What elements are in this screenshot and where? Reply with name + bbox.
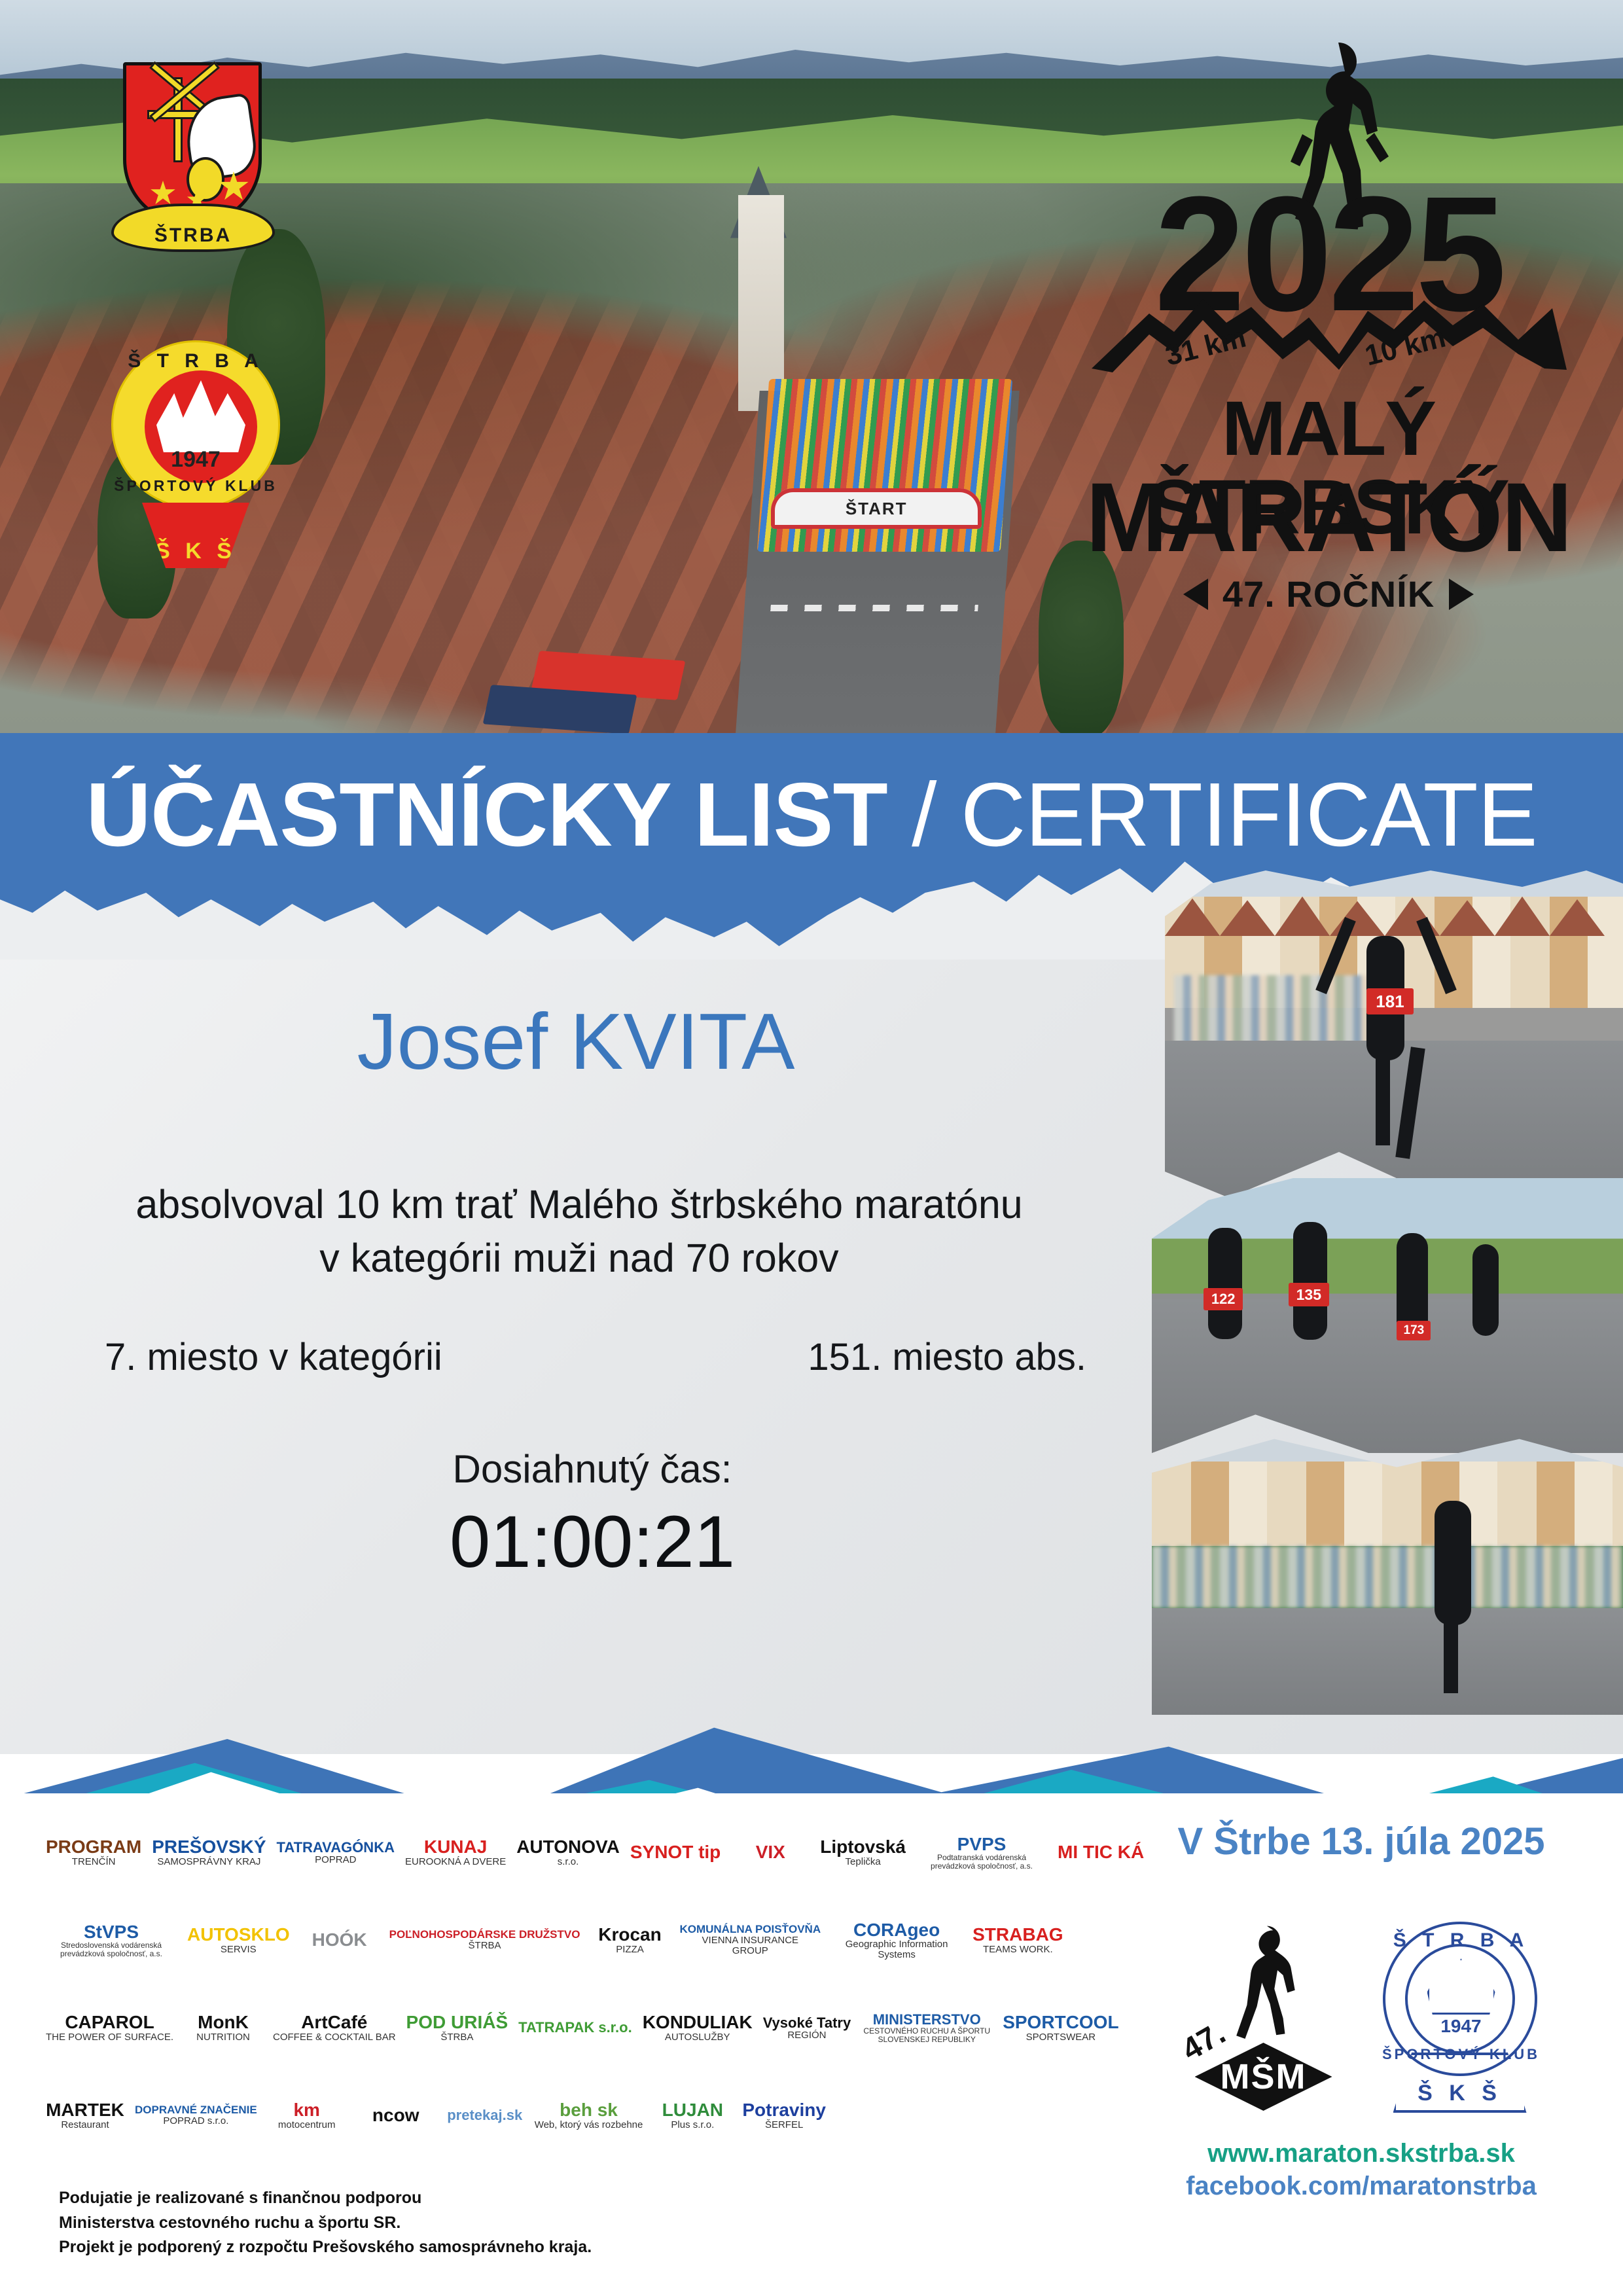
sponsor-name: LUJAN xyxy=(662,2100,723,2119)
sponsor-name: AUTOSKLO xyxy=(187,1925,290,1944)
photo-collage: 181 122 135 173 xyxy=(1126,870,1623,1715)
official-stamps: 47. MŠM Š T R B A 1947 ŠPORTOVÝ KLUB Š K… xyxy=(1158,1911,1564,2121)
sponsor-subtitle: EUROOKNÁ A DVERE xyxy=(405,1857,506,1867)
club-bottom-text: ŠPORTOVÝ KLUB xyxy=(113,477,278,495)
finish-time: 01:00:21 xyxy=(0,1505,1185,1579)
sponsor-logo: KONDULIAKAUTOSLUŽBY xyxy=(643,1988,753,2067)
sponsor-name: ncow xyxy=(372,2106,419,2125)
club-year: 1947 xyxy=(113,447,278,473)
bib-number: 122 xyxy=(1204,1288,1243,1310)
sponsor-name: Vysoké Tatry xyxy=(763,2015,851,2030)
sponsor-logo: TATRAVAGÓNKAPOPRAD xyxy=(277,1813,395,1892)
sponsor-logo: PVPSPodtatranská vodárenská prevádzková … xyxy=(916,1813,1047,1892)
recipient-last-name: KVITA xyxy=(570,997,794,1086)
sponsor-subtitle: Stredoslovenská vodárenská prevádzková s… xyxy=(46,1941,177,1958)
sponsor-name: POD URIÁŠ xyxy=(406,2013,508,2032)
sponsor-subtitle: Restaurant xyxy=(61,2120,109,2130)
sponsor-name: AUTONOVA xyxy=(516,1837,620,1856)
sponsor-subtitle: AUTOSLUŽBY xyxy=(665,2032,730,2043)
sponsor-name: PROGRAM xyxy=(46,1837,141,1856)
sponsor-footer: PROGRAMTRENČÍNPREŠOVSKÝSAMOSPRÁVNY KRAJT… xyxy=(0,1793,1623,2296)
funding-support-note: Podujatie je realizované s finančnou pod… xyxy=(59,2186,910,2260)
sponsor-logo: beh skWeb, ktorý vás rozbehne xyxy=(535,2076,643,2155)
sponsor-name: CORAgeo xyxy=(853,1920,940,1939)
place-absolute: 151. miesto abs. xyxy=(808,1335,1086,1379)
sponsor-subtitle: POPRAD s.r.o. xyxy=(163,2116,228,2126)
sponsor-name: STRABAG xyxy=(972,1925,1063,1944)
sponsor-name: ArtCafé xyxy=(301,2013,367,2032)
shield-icon xyxy=(123,62,262,224)
sponsor-name: MINISTERSTVO xyxy=(873,2012,981,2027)
recipient-first-name: Josef xyxy=(357,997,548,1086)
sponsor-name: PREŠOVSKÝ xyxy=(152,1837,266,1856)
triangle-right-icon xyxy=(1449,579,1474,610)
club-ring: Š T R B A 1947 ŠPORTOVÝ KLUB xyxy=(111,340,280,509)
sponsor-logo: SPORTCOOLSPORTSWEAR xyxy=(1003,1988,1118,2067)
sponsor-subtitle: VIENNA INSURANCE GROUP xyxy=(685,1935,815,1956)
time-label: Dosiahnutý čas: xyxy=(0,1446,1185,1492)
sponsor-logo: PREŠOVSKÝSAMOSPRÁVNY KRAJ xyxy=(152,1813,266,1892)
coat-caption: ŠTRBA xyxy=(154,224,232,249)
sponsor-subtitle: REGIÓN xyxy=(787,2030,826,2041)
bib-number: 135 xyxy=(1289,1283,1329,1306)
mountain-outline-icon xyxy=(1086,291,1571,376)
sponsor-logo: PotravinyŠERFEL xyxy=(742,2076,826,2155)
sponsor-name: TATRAVAGÓNKA xyxy=(277,1840,395,1855)
sponsor-logo: pretekaj.sk xyxy=(446,2076,524,2155)
strba-coat-of-arms: ŠTRBA xyxy=(111,62,275,259)
sponsor-name: POĽNOHOSPODÁRSKE DRUŽSTVO xyxy=(389,1929,580,1941)
sponsor-name: Krocan xyxy=(598,1925,661,1944)
sponsor-subtitle: COFFEE & COCKTAIL BAR xyxy=(273,2032,396,2043)
sks-stamp: Š T R B A 1947 ŠPORTOVÝ KLUB Š K Š xyxy=(1376,1918,1546,2114)
edition-label: 47. ROČNÍK xyxy=(1222,573,1435,615)
sponsor-name: CAPAROL xyxy=(65,2013,154,2032)
bib-number: 181 xyxy=(1366,988,1414,1014)
sponsor-name: StVPS xyxy=(84,1922,139,1941)
bib-number: 173 xyxy=(1397,1321,1431,1340)
sponsor-name: KOMUNÁLNA POISŤOVŇA xyxy=(679,1924,821,1935)
sponsor-name: Potraviny xyxy=(742,2100,826,2119)
facebook-link[interactable]: facebook.com/maratonstrba xyxy=(1158,2172,1564,2201)
sponsor-subtitle: POPRAD xyxy=(315,1855,356,1865)
stamp-year: 1947 xyxy=(1376,2016,1546,2037)
sponsor-logo: SYNOT tip xyxy=(630,1813,721,1892)
sponsor-subtitle: SERVIS xyxy=(221,1945,257,1955)
website-link[interactable]: www.maraton.skstrba.sk xyxy=(1158,2139,1564,2168)
sponsor-logo: CAPAROLTHE POWER OF SURFACE. xyxy=(46,1988,173,2067)
stamp-triangle: Š K Š xyxy=(1393,2053,1527,2113)
sponsor-logo: Vysoké TatryREGIÓN xyxy=(763,1988,851,2067)
sponsor-subtitle: Web, ktorý vás rozbehne xyxy=(535,2120,643,2130)
sponsor-name: KONDULIAK xyxy=(643,2013,753,2032)
sponsor-logo: LiptovskáTeplička xyxy=(820,1813,906,1892)
cuff-icon xyxy=(187,157,224,202)
sponsor-logo: KUNAJEUROOKNÁ A DVERE xyxy=(405,1813,506,1892)
band-title-separator: / xyxy=(887,764,961,865)
sponsor-subtitle: THE POWER OF SURFACE. xyxy=(46,2032,173,2043)
event-logo: 2025 31 km 10 km MALÝ ŠTRBSKÝ MARATÓN 47… xyxy=(1080,36,1577,599)
sponsor-subtitle: Podtatranská vodárenská prevádzková spol… xyxy=(916,1854,1047,1870)
support-note-line: Podujatie je realizované s finančnou pod… xyxy=(59,2186,910,2211)
msm-logo: 47. MŠM xyxy=(1177,1921,1340,2111)
event-title-line2: MARATÓN xyxy=(1080,468,1577,566)
support-note-line: Projekt je podporený z rozpočtu Prešovsk… xyxy=(59,2235,910,2260)
sponsor-logo: TATRAPAK s.r.o. xyxy=(518,1988,632,2067)
sponsor-name: VIX xyxy=(756,1842,785,1861)
achievement-line1: absolvoval 10 km trať Malého štrbského m… xyxy=(0,1178,1158,1232)
photo-runners-group: 122 135 173 xyxy=(1152,1178,1623,1453)
sponsor-subtitle: SAMOSPRÁVNY KRAJ xyxy=(157,1857,260,1867)
achievement-line2: v kategórii muži nad 70 rokov xyxy=(0,1232,1158,1285)
coat-ribbon: ŠTRBA xyxy=(111,204,275,252)
sponsor-name: pretekaj.sk xyxy=(447,2108,522,2123)
support-note-line: Ministerstva cestovného ruchu a športu S… xyxy=(59,2211,910,2236)
sponsor-logo: HOÓK xyxy=(300,1901,379,1979)
sponsor-subtitle: Plus s.r.o. xyxy=(671,2120,714,2130)
edition-row: 47. ROČNÍK xyxy=(1080,573,1577,615)
sponsor-name: Liptovská xyxy=(820,1837,906,1856)
sponsor-name: PVPS xyxy=(957,1835,1007,1854)
triangle-left-icon xyxy=(1183,579,1208,610)
sponsor-name: MARTEK xyxy=(46,2100,124,2119)
stamp-abbrev: Š K Š xyxy=(1418,2081,1502,2110)
sponsor-logo: KrocanPIZZA xyxy=(590,1901,669,1979)
sponsor-name: KUNAJ xyxy=(424,1837,487,1856)
sponsor-subtitle: SPORTSWEAR xyxy=(1026,2032,1096,2043)
band-title-en: CERTIFICATE xyxy=(961,764,1537,865)
sponsor-logo: CORAgeoGeographic Information Systems xyxy=(831,1901,962,1979)
sponsor-logo: KOMUNÁLNA POISŤOVŇAVIENNA INSURANCE GROU… xyxy=(679,1901,821,1979)
sponsor-logo: StVPSStredoslovenská vodárenská prevádzk… xyxy=(46,1901,177,1979)
stamp-top-text: Š T R B A xyxy=(1376,1929,1546,1952)
sponsor-logo: MonKNUTRITION xyxy=(184,1988,262,2067)
photo-finisher: 181 xyxy=(1165,870,1623,1198)
certificate-page: ŠTART ŠTRBA xyxy=(0,0,1623,2296)
sponsor-subtitle: PIZZA xyxy=(616,1945,644,1955)
sponsor-logo: ArtCaféCOFFEE & COCKTAIL BAR xyxy=(273,1988,396,2067)
sponsor-logo: AUTONOVAs.r.o. xyxy=(516,1813,620,1892)
sports-club-logo: Š T R B A 1947 ŠPORTOVÝ KLUB Š K Š xyxy=(108,340,285,576)
place-in-category: 7. miesto v kategórii xyxy=(105,1335,442,1379)
sponsor-name: MonK xyxy=(198,2013,249,2032)
sponsor-name: SPORTCOOL xyxy=(1003,2013,1118,2032)
sponsor-logo: POĽNOHOSPODÁRSKE DRUŽSTVOŠTRBA xyxy=(389,1901,580,1979)
sponsor-subtitle: ŠTRBA xyxy=(440,2032,473,2043)
hero-photo-village: ŠTART ŠTRBA xyxy=(0,0,1623,759)
sponsor-subtitle: CESTOVNÉHO RUCHU A ŠPORTU SLOVENSKEJ REP… xyxy=(861,2027,992,2043)
sponsor-logo: POD URIÁŠŠTRBA xyxy=(406,1988,508,2067)
sponsor-name: beh sk xyxy=(560,2100,618,2119)
sponsor-name: TATRAPAK s.r.o. xyxy=(518,2020,632,2035)
sponsor-logo: MI TIC KÁ xyxy=(1058,1813,1144,1892)
sponsor-subtitle: motocentrum xyxy=(278,2120,336,2130)
club-top-text: Š T R B A xyxy=(113,350,278,372)
club-abbrev: Š K Š xyxy=(155,539,236,568)
sponsor-logo: STRABAGTEAMS WORK. xyxy=(972,1901,1063,1979)
start-arch-label: ŠTART xyxy=(771,499,982,519)
sponsor-logo: kmmotocentrum xyxy=(268,2076,346,2155)
sponsor-logo: DOPRAVNÉ ZNAČENIEPOPRAD s.r.o. xyxy=(135,2076,257,2155)
sponsor-name: MI TIC KÁ xyxy=(1058,1842,1144,1861)
sponsor-logo: PROGRAMTRENČÍN xyxy=(46,1813,141,1892)
placement-row: 7. miesto v kategórii 151. miesto abs. xyxy=(0,1335,1185,1379)
sponsor-subtitle: Geographic Information Systems xyxy=(831,1939,962,1960)
club-tail: Š K Š xyxy=(142,503,249,568)
achievement-text: absolvoval 10 km trať Malého štrbského m… xyxy=(0,1178,1158,1285)
sponsor-logo: VIX xyxy=(731,1813,810,1892)
sponsor-logo: ncow xyxy=(357,2076,435,2155)
sponsor-logo-grid: PROGRAMTRENČÍNPREŠOVSKÝSAMOSPRÁVNY KRAJT… xyxy=(46,1813,1158,2155)
sponsor-subtitle: ŠTRBA xyxy=(469,1941,501,1951)
sponsor-subtitle: TRENČÍN xyxy=(72,1857,116,1867)
sponsor-subtitle: ŠERFEL xyxy=(765,2120,803,2130)
sponsor-subtitle: s.r.o. xyxy=(558,1857,579,1867)
sponsor-subtitle: TEAMS WORK. xyxy=(983,1945,1053,1955)
sponsor-logo: MARTEKRestaurant xyxy=(46,2076,124,2155)
sponsor-subtitle: Teplička xyxy=(846,1857,881,1867)
recipient-name: Josef KVITA xyxy=(0,1001,1152,1081)
sponsor-name: HOÓK xyxy=(312,1930,367,1949)
sponsor-logo: MINISTERSTVOCESTOVNÉHO RUCHU A ŠPORTU SL… xyxy=(861,1988,992,2067)
sponsor-logo: LUJANPlus s.r.o. xyxy=(653,2076,732,2155)
sponsor-name: km xyxy=(293,2100,319,2119)
msm-abbrev: MŠM xyxy=(1221,2056,1307,2097)
band-title-sk: ÚČASTNÍCKY LIST xyxy=(86,764,887,865)
sponsor-subtitle: NUTRITION xyxy=(196,2032,250,2043)
start-arch: ŠTART xyxy=(771,488,982,529)
sponsor-logo: AUTOSKLOSERVIS xyxy=(187,1901,290,1979)
issue-date: V Štrbe 13. júla 2025 xyxy=(1158,1820,1564,1863)
sponsor-name: DOPRAVNÉ ZNAČENIE xyxy=(135,2104,257,2116)
band-title: ÚČASTNÍCKY LIST / CERTIFICATE xyxy=(0,770,1623,860)
sponsor-name: SYNOT tip xyxy=(630,1842,721,1861)
